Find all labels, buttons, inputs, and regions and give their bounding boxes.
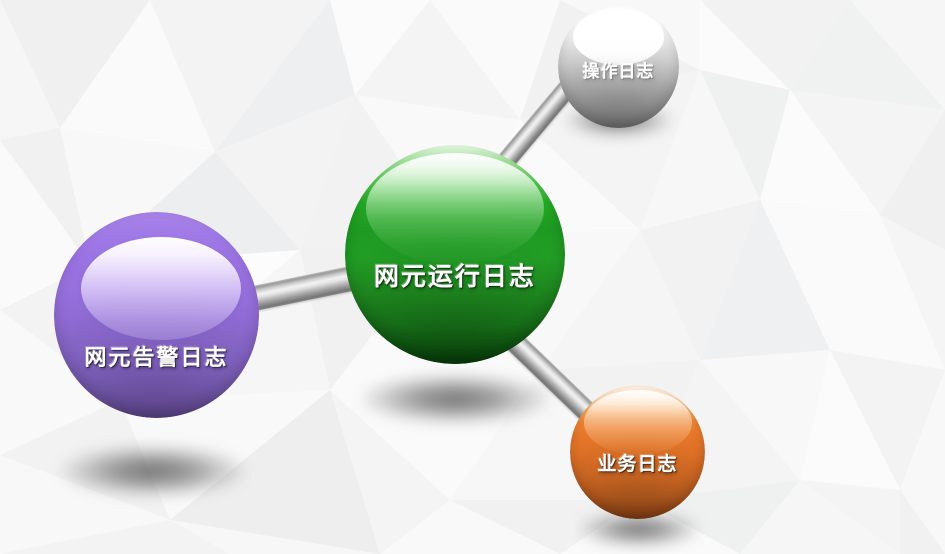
node-sphere-element-alarm-log[interactable]: 网元告警日志 (54, 212, 259, 418)
node-sphere-element-runtime-log[interactable]: 网元运行日志 (345, 145, 565, 364)
sphere-icon-purple (54, 212, 259, 418)
sphere-icon-green (345, 145, 565, 364)
shadow-green-sphere (363, 375, 547, 423)
sphere-icon-gray (558, 5, 679, 128)
shadow-purple-sphere (62, 446, 244, 496)
node-sphere-business-log[interactable]: 业务日志 (570, 385, 705, 519)
node-sphere-operation-log[interactable]: 操作日志 (558, 5, 679, 128)
diagram-canvas: 操作日志 网元告警日志 业务日志 网元运行日志 (0, 0, 945, 554)
sphere-icon-orange (570, 385, 705, 519)
